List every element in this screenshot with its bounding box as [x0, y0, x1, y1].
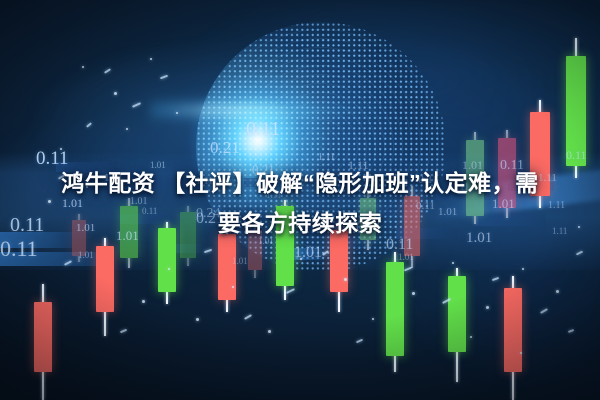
banner-title: 鸿牛配资 【社评】破解“隐形加班”认定难，需 要各方持续探索 — [0, 163, 600, 243]
title-line-1: 鸿牛配资 【社评】破解“隐形加班”认定难，需 — [61, 170, 538, 196]
banner-image: 0.111.011.010.210.110.211.111.010.110.11… — [0, 0, 600, 400]
title-line-2: 要各方持续探索 — [16, 203, 584, 243]
